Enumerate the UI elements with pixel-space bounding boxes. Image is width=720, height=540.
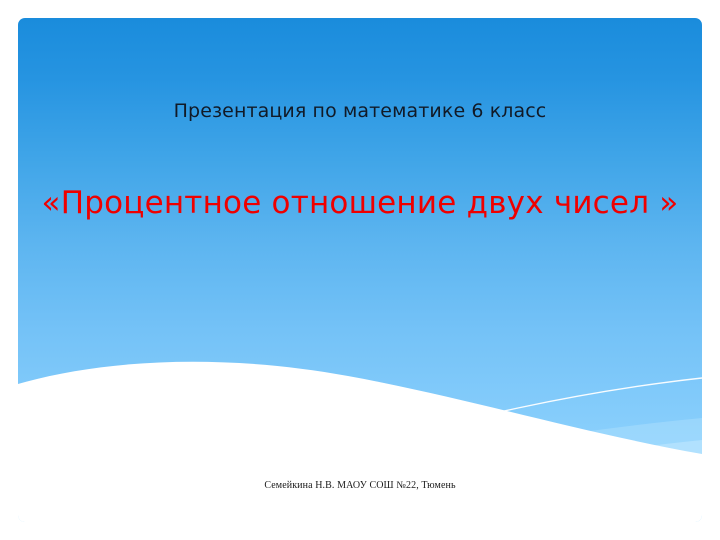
slide-canvas: Презентация по математике 6 класс «Проце… bbox=[18, 18, 702, 522]
slide-footer-credit: Семейкина Н.В. МАОУ СОШ №22, Тюмень bbox=[18, 480, 702, 491]
text-layer: Презентация по математике 6 класс «Проце… bbox=[18, 18, 702, 522]
slide-root: Презентация по математике 6 класс «Проце… bbox=[0, 0, 720, 540]
slide-title: «Процентное отношение двух чисел » bbox=[18, 184, 702, 223]
slide-subtitle: Презентация по математике 6 класс bbox=[18, 100, 702, 123]
